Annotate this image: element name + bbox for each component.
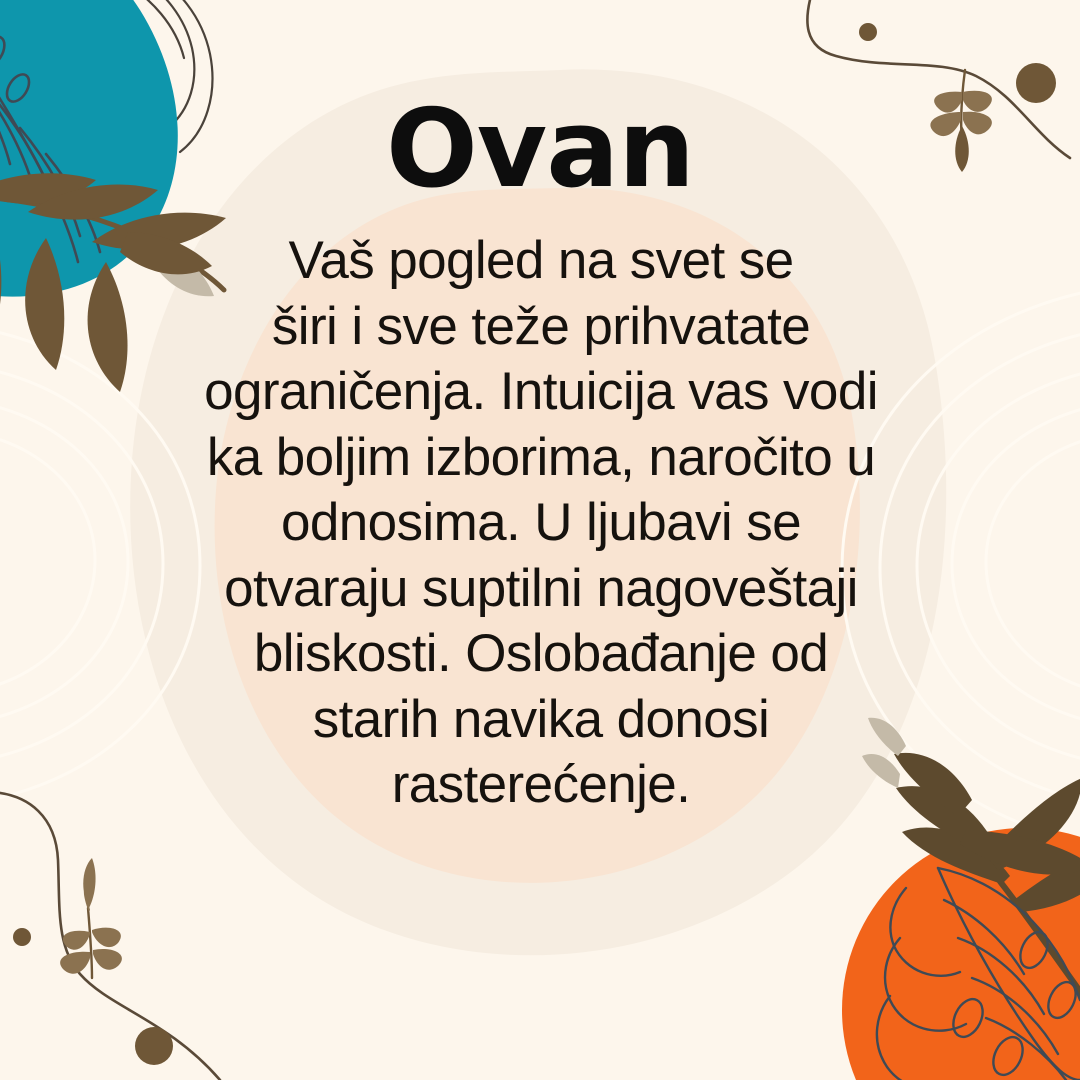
body-line: rasterećenje. [180,752,902,818]
body-line: odnosima. U ljubavi se [180,490,902,556]
body-line: Vaš pogled na svet se [180,228,902,294]
body-line: ka boljim izborima, naročito u [180,425,902,491]
body-line: širi i sve teže prihvatate [180,294,902,360]
body-line: bliskosti. Oslobađanje od [180,621,902,687]
body-line: starih navika donosi [180,687,902,753]
page-title: Ovan [0,96,1080,204]
horoscope-body-text: Vaš pogled na svet se širi i sve teže pr… [180,228,902,818]
poster-canvas: Ovan Vaš pogled na svet se širi i sve te… [0,0,1080,1080]
text-content: Ovan Vaš pogled na svet se širi i sve te… [0,0,1080,1080]
body-line: ograničenja. Intuicija vas vodi [180,359,902,425]
body-line: otvaraju suptilni nagoveštaji [180,556,902,622]
